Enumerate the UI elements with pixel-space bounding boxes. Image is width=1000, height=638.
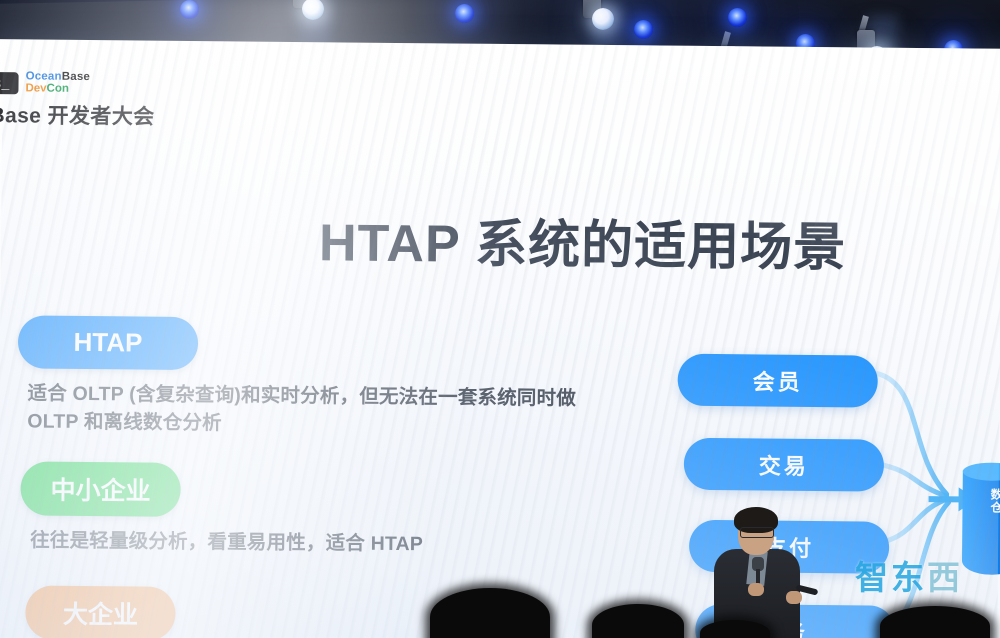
badge-sme: 中小企业: [20, 462, 181, 518]
scenario-block-htap: HTAP 适合 OLTP (含复杂查询)和实时分析，但无法在一套系统同时做 OL…: [0, 315, 660, 442]
logo-ocean-text: Ocean: [26, 70, 62, 82]
badge-enterprise: 大企业: [25, 585, 176, 638]
slide-title: HTAP 系统的适用场景: [319, 200, 847, 280]
logo-dev-text: Dev: [25, 82, 46, 94]
conference-subtitle: anBase 开发者大会: [0, 99, 155, 131]
logo-base-text: Base: [62, 71, 90, 83]
watermark-char-2: 东: [891, 551, 924, 599]
cylinder-label: 数仓: [990, 489, 1000, 516]
scenario-text-htap: 适合 OLTP (含复杂查询)和实时分析，但无法在一套系统同时做 OLTP 和离…: [27, 380, 660, 441]
projected-slide: 3_ OceanBase DevCon anBase 开发者大会 HTAP 系统…: [0, 39, 1000, 638]
watermark-char-1: 智: [855, 551, 888, 599]
speaker-glasses-icon: [740, 527, 774, 538]
audience-head: [430, 588, 550, 638]
speaker-hand-right: [786, 591, 802, 604]
logo-con-text: Con: [47, 82, 69, 94]
scenario-block-sme: 中小企业 往往是轻量级分析，看重易用性，适合 HTAP: [0, 462, 659, 562]
watermark-char-3: 西: [927, 551, 960, 599]
scenario-block-list: HTAP 适合 OLTP (含复杂查询)和实时分析，但无法在一套系统同时做 OL…: [0, 315, 660, 638]
pill-member: 会员: [677, 354, 877, 408]
speaker-person: [700, 505, 830, 638]
watermark-logo: 智 东 西: [855, 548, 1000, 602]
scenario-text-sme: 往往是轻量级分析，看重易用性，适合 HTAP: [30, 528, 658, 562]
oceanbase-devcon-logo: 3_ OceanBase DevCon: [0, 71, 90, 96]
scenario-text-line: 往往是轻量级分析，看重易用性，适合 HTAP: [30, 528, 658, 562]
audience-head: [880, 606, 990, 638]
pill-transaction: 交易: [684, 438, 884, 492]
audience-head: [592, 604, 684, 638]
logo-mark: 3_: [0, 72, 19, 94]
speaker-hand-left: [748, 583, 764, 596]
scenario-block-enterprise: 大企业 单个业务往往是轻量级分析，适合 HTAP；公司级数仓数据量大，分 析请求…: [0, 585, 658, 638]
stage-scene: 3_ OceanBase DevCon anBase 开发者大会 HTAP 系统…: [0, 0, 1000, 638]
badge-htap: HTAP: [18, 315, 199, 370]
